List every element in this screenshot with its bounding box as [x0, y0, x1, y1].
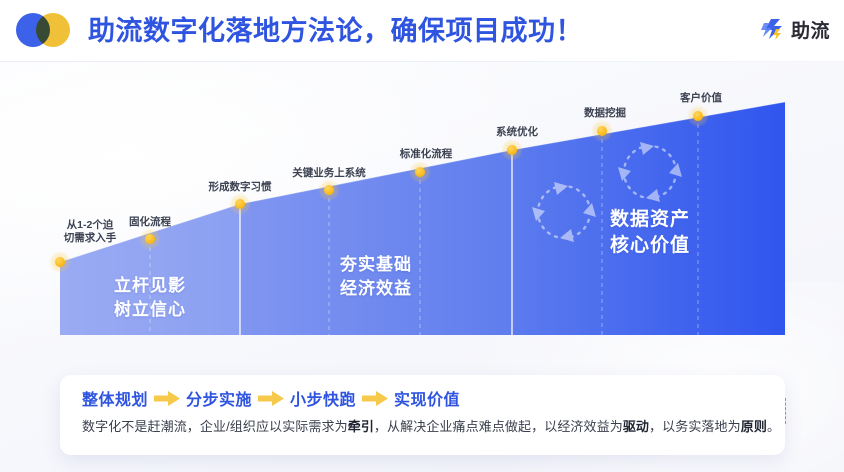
lightning-bolt-icon [760, 17, 786, 43]
milestone-core [597, 126, 607, 136]
stage-label-3-line1: 数据资产 [610, 207, 690, 233]
milestone-label-6: 系统优化 [496, 126, 538, 139]
milestone-label-7: 数据挖掘 [584, 107, 626, 120]
right-arrow-icon [258, 391, 284, 406]
stage-label-3-line2: 核心价值 [610, 233, 690, 259]
summary-description: 数字化不是赶潮流，企业/组织应以实际需求为牵引，从解决企业痛点难点做起，以经济效… [82, 417, 763, 437]
milestone-core [324, 185, 334, 195]
axis-tick-end [785, 398, 786, 424]
milestone-core [55, 257, 65, 267]
method-step-2: 分步实施 [186, 386, 252, 410]
milestone-label-2: 固化流程 [129, 216, 171, 229]
milestone-label-1-line1: 从1-2个迫 [64, 219, 117, 232]
milestone-label-8: 客户价值 [680, 92, 722, 105]
method-steps-row: 整体规划 分步实施 小步快跑 实现价值 [82, 386, 763, 410]
method-step-3: 小步快跑 [290, 386, 356, 410]
brand-name: 助流 [791, 16, 830, 43]
stage-label-1: 立杆见影 树立信心 [114, 274, 186, 322]
desc-part-2: ，从解决企业痛点难点做起，以经济效益为 [374, 419, 623, 434]
page-title: 助流数字化落地方法论，确保项目成功！ [88, 12, 583, 50]
milestone-label-1: 从1-2个迫 切需求入手 [64, 219, 117, 245]
milestone-core [235, 199, 245, 209]
milestone-core [145, 234, 155, 244]
milestone-label-4: 关键业务上系统 [292, 167, 366, 180]
stage-area-2 [240, 150, 512, 335]
stage-label-1-line2: 树立信心 [114, 298, 186, 322]
right-arrow-icon [154, 391, 180, 406]
method-step-1: 整体规划 [82, 386, 148, 410]
summary-panel: 整体规划 分步实施 小步快跑 实现价值 数字化不是赶潮流，企业/组织应以实际需求… [60, 375, 785, 455]
page-header: 助流数字化落地方法论，确保项目成功！ 助流 [0, 0, 844, 62]
stage-label-1-line1: 立杆见影 [114, 274, 186, 298]
milestone-core [415, 167, 425, 177]
stage-label-2-line2: 经济效益 [340, 277, 412, 301]
brand-logo-icon [16, 13, 78, 47]
desc-emphasis-3: 原则 [741, 419, 767, 434]
logo-circle-gold [36, 13, 70, 47]
milestone-core [693, 111, 703, 121]
desc-emphasis-2: 驱动 [623, 419, 649, 434]
milestone-label-1-line2: 切需求入手 [64, 232, 117, 245]
milestone-core [507, 145, 517, 155]
method-step-4: 实现价值 [394, 386, 460, 410]
desc-part-1: 数字化不是赶潮流，企业/组织应以实际需求为 [82, 419, 348, 434]
milestone-label-5: 标准化流程 [400, 148, 453, 161]
infographic-stage: 立杆见影 树立信心 夯实基础 经济效益 数据资产 核心价值 从1-2个迫 切需求… [0, 62, 844, 472]
brand-lockup: 助流 [760, 16, 830, 43]
milestone-label-3: 形成数字习惯 [209, 181, 272, 194]
desc-emphasis-1: 牵引 [348, 419, 374, 434]
desc-part-3: ，以务实落地为 [649, 419, 741, 434]
desc-part-4: 。 [767, 419, 780, 434]
stage-label-2: 夯实基础 经济效益 [340, 253, 412, 301]
stage-label-2-line1: 夯实基础 [340, 253, 412, 277]
stage-label-3: 数据资产 核心价值 [610, 207, 690, 259]
right-arrow-icon [362, 391, 388, 406]
